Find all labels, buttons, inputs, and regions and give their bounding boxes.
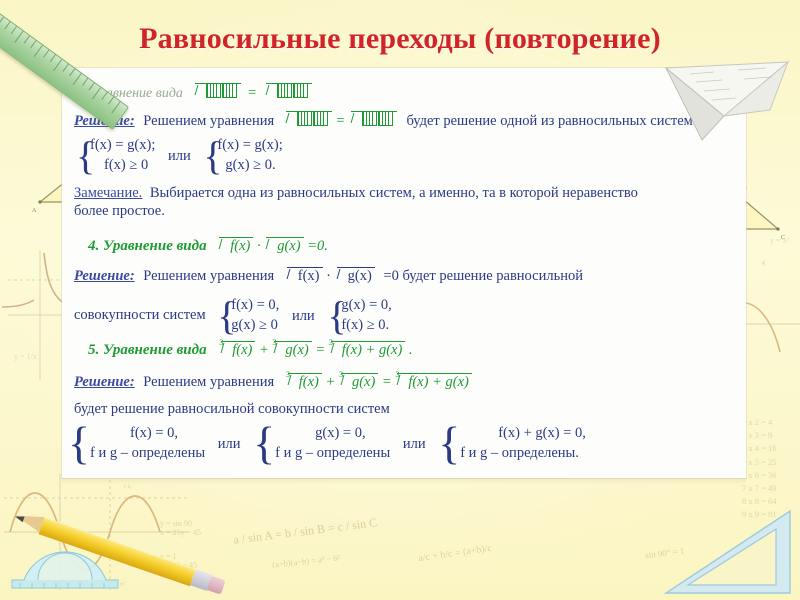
item5-or-1: или bbox=[209, 435, 250, 453]
item3-remark-line2: более простое. bbox=[74, 202, 165, 220]
brace-left-icon: { bbox=[76, 140, 95, 172]
corrupt-glyph bbox=[222, 83, 237, 98]
item4-system-a-row1: f(x) = 0, bbox=[231, 297, 279, 313]
item4-solution-label: Решение: bbox=[74, 268, 135, 284]
item3-remark-line1: Замечание. Выбирается одна из равносильн… bbox=[74, 184, 638, 202]
item5-heading-row: 5. Уравнение вида 3 f(x) + 3 g(x) = 3 f(… bbox=[88, 340, 413, 360]
item5-root-index: 3 bbox=[286, 369, 290, 380]
item5-solution-text-2-row: будет решение равносильной совокупности … bbox=[74, 400, 390, 418]
item5-solution-plus: + bbox=[326, 374, 336, 390]
item5-root-index: 3 bbox=[272, 337, 276, 348]
item4-or-1: или bbox=[283, 307, 324, 325]
slide-root: y = 1/x ACB bac π²π²π² r x ACB bac bbox=[0, 0, 800, 600]
corrupt-glyph bbox=[293, 83, 308, 98]
item5-systems-row: { f(x) = 0, f и g – определены или { g(x… bbox=[68, 424, 586, 463]
item5-equals: = bbox=[315, 342, 325, 358]
brace-left-icon: { bbox=[203, 140, 222, 172]
corrupt-glyph bbox=[277, 83, 292, 98]
item4-solution-text-2: =0 будет решение равносильной bbox=[383, 268, 583, 284]
item5-solution-g: g(x) bbox=[352, 374, 375, 390]
item5-system-a-row1: f(x) = 0, bbox=[82, 424, 205, 444]
item3-systems-row: { f(x) = g(x); f(x) ≥ 0 или { f(x) = g(x… bbox=[76, 136, 283, 175]
item5-solution-f: f(x) bbox=[299, 374, 319, 390]
item5-root-index: 3 bbox=[395, 369, 399, 380]
item5-system-b-row1: g(x) = 0, bbox=[267, 424, 390, 444]
brace-left-icon: { bbox=[68, 425, 90, 462]
item4-eq-zero: =0. bbox=[307, 238, 328, 254]
item5-plus-1: + bbox=[259, 342, 269, 358]
item4-solution-dot: · bbox=[326, 268, 331, 284]
item3-solution-text-2: будет решение одной из равносильных сист… bbox=[406, 113, 692, 129]
item3-or-1: или bbox=[159, 147, 200, 165]
corrupt-glyph bbox=[206, 83, 221, 98]
item5-root-index: 3 bbox=[339, 369, 343, 380]
brace-left-icon: { bbox=[327, 300, 346, 332]
item3-system-b: { f(x) = g(x); g(x) ≥ 0. bbox=[203, 136, 282, 175]
item5-system-b-row2: f и g – определены bbox=[267, 444, 390, 464]
item5-system-b: { g(x) = 0, f и g – определены bbox=[253, 424, 390, 463]
item4-f: f(x) bbox=[230, 238, 250, 254]
item4-solution-text-1: Решением уравнения bbox=[143, 268, 274, 284]
lesson-content: 3. Уравнение вида = Решение: Решением ур… bbox=[70, 74, 742, 474]
item3-heading: 3. Уравнение вида bbox=[76, 86, 183, 101]
item4-system-b-row1: g(x) = 0, bbox=[341, 297, 391, 313]
item5-system-c-row1: f(x) + g(x) = 0, bbox=[452, 424, 586, 444]
item3-solution-radical-left bbox=[284, 110, 332, 130]
item3-system-b-row1: f(x) = g(x); bbox=[217, 137, 282, 153]
item5-solution-text-2: будет решение равносильной совокупности … bbox=[74, 401, 390, 417]
item5-solution-sum: f(x) + g(x) bbox=[408, 374, 469, 390]
item4-radical-g: g(x) bbox=[264, 236, 303, 255]
item5-radical-sum: 3 f(x) + g(x) bbox=[329, 340, 406, 359]
item4-systems-row: совокупности систем { f(x) = 0, g(x) ≥ 0… bbox=[74, 296, 392, 335]
item5-root-index: 3 bbox=[219, 337, 223, 348]
item5-root-index: 3 bbox=[329, 337, 333, 348]
item4-system-a: { f(x) = 0, g(x) ≥ 0 bbox=[217, 296, 279, 335]
item3-radical-left bbox=[193, 82, 241, 102]
item4-dot: · bbox=[257, 238, 261, 254]
item3-remark-text-2: более простое. bbox=[74, 203, 165, 219]
item4-system-b-row2: f(x) ≥ 0. bbox=[341, 316, 391, 336]
item5-solution-equals: = bbox=[382, 374, 392, 390]
item4-solution-text-3: совокупности систем bbox=[74, 307, 206, 323]
item4-g: g(x) bbox=[277, 238, 300, 254]
item4-solution-row: Решение: Решением уравнения f(x) · g(x) … bbox=[74, 266, 583, 285]
corrupt-glyph bbox=[362, 111, 377, 126]
item4-heading: 4. Уравнение вида bbox=[88, 238, 207, 254]
item5-system-a-row2: f и g – определены bbox=[82, 444, 205, 464]
item4-heading-row: 4. Уравнение вида f(x) · g(x) =0. bbox=[88, 236, 328, 256]
brace-left-icon: { bbox=[438, 425, 460, 462]
corrupt-glyph bbox=[378, 111, 393, 126]
item5-system-c-row2: f и g – определены. bbox=[452, 444, 586, 464]
item5-radical-f: 3 f(x) bbox=[219, 340, 255, 359]
item3-solution-radical-right bbox=[349, 110, 397, 130]
item3-solution-text-1: Решением уравнения bbox=[143, 113, 274, 129]
item3-system-b-row2: g(x) ≥ 0. bbox=[217, 156, 282, 176]
item5-system-c: { f(x) + g(x) = 0, f и g – определены. bbox=[438, 424, 586, 463]
item4-system-a-row2: g(x) ≥ 0 bbox=[231, 316, 279, 336]
item3-equals: = bbox=[247, 85, 257, 101]
page-title: Равносильные переходы (повторение) bbox=[0, 22, 800, 56]
item3-heading-row: 3. Уравнение вида = bbox=[76, 82, 312, 103]
item5-heading: 5. Уравнение вида bbox=[88, 342, 207, 358]
item3-system-a: { f(x) = g(x); f(x) ≥ 0 bbox=[76, 136, 155, 175]
item3-solution-label: Решение: bbox=[74, 113, 135, 129]
item5-system-a: { f(x) = 0, f и g – определены bbox=[68, 424, 205, 463]
item5-solution-radical-g: 3 g(x) bbox=[339, 372, 378, 391]
item4-solution-radical-f: f(x) bbox=[285, 266, 323, 285]
item5-solution-row: Решение: Решением уравнения 3 f(x) + 3 g… bbox=[74, 372, 472, 391]
item3-remark-text-1: Выбирается одна из равносильных систем, … bbox=[150, 185, 638, 201]
item5-solution-label: Решение: bbox=[74, 374, 135, 390]
item5-g: g(x) bbox=[285, 342, 308, 358]
item4-system-b: { g(x) = 0, f(x) ≥ 0. bbox=[327, 296, 391, 335]
item4-solution-radical-g: g(x) bbox=[335, 266, 375, 285]
brace-left-icon: { bbox=[253, 425, 275, 462]
item3-remark-label: Замечание. bbox=[74, 185, 142, 201]
item4-radical-f: f(x) bbox=[217, 236, 253, 255]
item5-solution-radical-f: 3 f(x) bbox=[286, 372, 322, 391]
item3-solution-equals: = bbox=[335, 113, 345, 129]
item5-sum: f(x) + g(x) bbox=[342, 342, 403, 358]
item5-period: . bbox=[409, 342, 413, 358]
item3-system-a-row2: f(x) ≥ 0 bbox=[90, 156, 155, 176]
item5-radical-g: 3 g(x) bbox=[272, 340, 311, 359]
item3-solution-row: Решение: Решением уравнения = будет реше… bbox=[74, 110, 693, 130]
item4-solution-g: g(x) bbox=[348, 268, 372, 284]
item5-solution-radical-sum: 3 f(x) + g(x) bbox=[395, 372, 472, 391]
item5-f: f(x) bbox=[232, 342, 252, 358]
item3-system-a-row1: f(x) = g(x); bbox=[90, 137, 155, 153]
item5-solution-text-1: Решением уравнения bbox=[143, 374, 274, 390]
corrupt-glyph bbox=[313, 111, 328, 126]
brace-left-icon: { bbox=[217, 300, 236, 332]
item5-or-2: или bbox=[394, 435, 435, 453]
item4-solution-f: f(x) bbox=[298, 268, 320, 284]
item3-radical-right bbox=[264, 82, 312, 102]
corrupt-glyph bbox=[297, 111, 312, 126]
